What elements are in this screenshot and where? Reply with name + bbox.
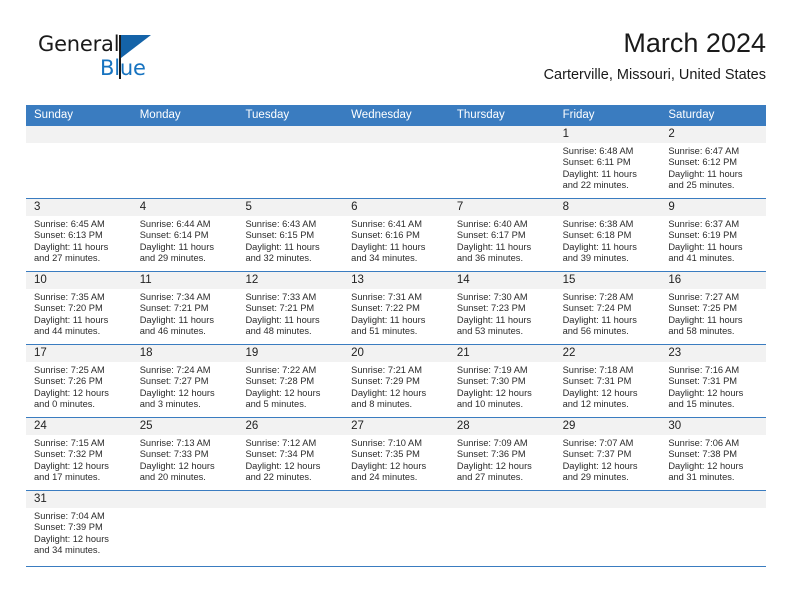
date-strip: 30 xyxy=(660,418,766,435)
sunrise-text: Sunrise: 6:43 AM xyxy=(245,219,337,230)
sunrise-text: Sunrise: 6:40 AM xyxy=(457,219,549,230)
date-number: 11 xyxy=(132,272,238,289)
daylight-text-line1: Daylight: 12 hours xyxy=(34,461,126,472)
sun-times: Sunrise: 7:18 AMSunset: 7:31 PMDaylight:… xyxy=(555,362,661,410)
dow-monday: Monday xyxy=(132,105,238,125)
date-strip: 23 xyxy=(660,345,766,362)
date-number: 9 xyxy=(660,199,766,216)
date-number: 31 xyxy=(26,491,132,508)
sun-times: Sunrise: 6:40 AMSunset: 6:17 PMDaylight:… xyxy=(449,216,555,264)
daylight-text-line1: Daylight: 12 hours xyxy=(563,461,655,472)
weeks-container: 1Sunrise: 6:48 AMSunset: 6:11 PMDaylight… xyxy=(26,125,766,566)
sunrise-text: Sunrise: 7:06 AM xyxy=(668,438,760,449)
sunset-text: Sunset: 6:11 PM xyxy=(563,157,655,168)
daylight-text-line2: and 41 minutes. xyxy=(668,253,760,264)
daylight-text-line2: and 22 minutes. xyxy=(245,472,337,483)
daylight-text-line2: and 8 minutes. xyxy=(351,399,443,410)
sun-times: Sunrise: 7:04 AMSunset: 7:39 PMDaylight:… xyxy=(26,508,132,556)
daylight-text-line1: Daylight: 12 hours xyxy=(245,388,337,399)
date-strip xyxy=(660,491,766,508)
sunrise-text: Sunrise: 7:31 AM xyxy=(351,292,443,303)
sunset-text: Sunset: 6:18 PM xyxy=(563,230,655,241)
daylight-text-line2: and 24 minutes. xyxy=(351,472,443,483)
week-row: 31Sunrise: 7:04 AMSunset: 7:39 PMDayligh… xyxy=(26,490,766,566)
sunset-text: Sunset: 7:21 PM xyxy=(245,303,337,314)
date-number: 13 xyxy=(343,272,449,289)
date-strip: 28 xyxy=(449,418,555,435)
date-strip: 5 xyxy=(237,199,343,216)
day-cell[interactable]: 3Sunrise: 6:45 AMSunset: 6:13 PMDaylight… xyxy=(26,199,132,271)
daylight-text-line1: Daylight: 12 hours xyxy=(34,388,126,399)
sunrise-text: Sunrise: 7:07 AM xyxy=(563,438,655,449)
day-cell-empty xyxy=(132,491,238,566)
day-cell[interactable]: 1Sunrise: 6:48 AMSunset: 6:11 PMDaylight… xyxy=(555,126,661,198)
general-blue-logo[interactable]: General Blue xyxy=(38,32,208,90)
daylight-text-line2: and 29 minutes. xyxy=(140,253,232,264)
sun-times: Sunrise: 6:38 AMSunset: 6:18 PMDaylight:… xyxy=(555,216,661,264)
daylight-text-line1: Daylight: 12 hours xyxy=(668,461,760,472)
date-strip xyxy=(237,491,343,508)
sunrise-text: Sunrise: 6:38 AM xyxy=(563,219,655,230)
date-strip: 22 xyxy=(555,345,661,362)
logo-flag-icon xyxy=(121,35,151,58)
day-cell[interactable]: 25Sunrise: 7:13 AMSunset: 7:33 PMDayligh… xyxy=(132,418,238,490)
date-number: 3 xyxy=(26,199,132,216)
day-cell-empty xyxy=(449,126,555,198)
sunset-text: Sunset: 7:36 PM xyxy=(457,449,549,460)
day-cell[interactable]: 9Sunrise: 6:37 AMSunset: 6:19 PMDaylight… xyxy=(660,199,766,271)
sunrise-text: Sunrise: 7:13 AM xyxy=(140,438,232,449)
sun-times: Sunrise: 6:45 AMSunset: 6:13 PMDaylight:… xyxy=(26,216,132,264)
daylight-text-line2: and 5 minutes. xyxy=(245,399,337,410)
date-strip: 12 xyxy=(237,272,343,289)
sunset-text: Sunset: 7:34 PM xyxy=(245,449,337,460)
date-number: 25 xyxy=(132,418,238,435)
date-number: 12 xyxy=(237,272,343,289)
sun-times: Sunrise: 6:47 AMSunset: 6:12 PMDaylight:… xyxy=(660,143,766,191)
date-number: 1 xyxy=(555,126,661,143)
sunrise-text: Sunrise: 6:44 AM xyxy=(140,219,232,230)
date-strip: 19 xyxy=(237,345,343,362)
date-number: 21 xyxy=(449,345,555,362)
date-number: 4 xyxy=(132,199,238,216)
day-cell-empty xyxy=(237,491,343,566)
day-cell[interactable]: 15Sunrise: 7:28 AMSunset: 7:24 PMDayligh… xyxy=(555,272,661,344)
sunset-text: Sunset: 6:19 PM xyxy=(668,230,760,241)
date-strip: 7 xyxy=(449,199,555,216)
sunset-text: Sunset: 7:31 PM xyxy=(668,376,760,387)
day-cell[interactable]: 19Sunrise: 7:22 AMSunset: 7:28 PMDayligh… xyxy=(237,345,343,417)
day-cell[interactable]: 7Sunrise: 6:40 AMSunset: 6:17 PMDaylight… xyxy=(449,199,555,271)
daylight-text-line1: Daylight: 12 hours xyxy=(245,461,337,472)
sunrise-text: Sunrise: 7:04 AM xyxy=(34,511,126,522)
sunset-text: Sunset: 7:21 PM xyxy=(140,303,232,314)
sunrise-text: Sunrise: 7:18 AM xyxy=(563,365,655,376)
sunrise-text: Sunrise: 7:27 AM xyxy=(668,292,760,303)
date-number: 19 xyxy=(237,345,343,362)
sun-times: Sunrise: 6:48 AMSunset: 6:11 PMDaylight:… xyxy=(555,143,661,191)
date-strip: 25 xyxy=(132,418,238,435)
sunset-text: Sunset: 6:17 PM xyxy=(457,230,549,241)
daylight-text-line2: and 22 minutes. xyxy=(563,180,655,191)
date-strip xyxy=(343,126,449,143)
date-number: 28 xyxy=(449,418,555,435)
date-strip xyxy=(132,491,238,508)
day-cell[interactable]: 21Sunrise: 7:19 AMSunset: 7:30 PMDayligh… xyxy=(449,345,555,417)
sunset-text: Sunset: 7:25 PM xyxy=(668,303,760,314)
date-strip: 27 xyxy=(343,418,449,435)
date-strip: 3 xyxy=(26,199,132,216)
day-cell[interactable]: 6Sunrise: 6:41 AMSunset: 6:16 PMDaylight… xyxy=(343,199,449,271)
week-row: 17Sunrise: 7:25 AMSunset: 7:26 PMDayligh… xyxy=(26,344,766,417)
date-number: 22 xyxy=(555,345,661,362)
sunset-text: Sunset: 6:12 PM xyxy=(668,157,760,168)
date-number: 2 xyxy=(660,126,766,143)
sunset-text: Sunset: 7:32 PM xyxy=(34,449,126,460)
sun-times: Sunrise: 7:06 AMSunset: 7:38 PMDaylight:… xyxy=(660,435,766,483)
day-cell[interactable]: 28Sunrise: 7:09 AMSunset: 7:36 PMDayligh… xyxy=(449,418,555,490)
date-strip xyxy=(449,126,555,143)
week-row: 3Sunrise: 6:45 AMSunset: 6:13 PMDaylight… xyxy=(26,198,766,271)
date-number: 5 xyxy=(237,199,343,216)
sun-times: Sunrise: 7:31 AMSunset: 7:22 PMDaylight:… xyxy=(343,289,449,337)
day-cell[interactable]: 31Sunrise: 7:04 AMSunset: 7:39 PMDayligh… xyxy=(26,491,132,566)
sunset-text: Sunset: 7:35 PM xyxy=(351,449,443,460)
daylight-text-line2: and 32 minutes. xyxy=(245,253,337,264)
sun-times: Sunrise: 6:44 AMSunset: 6:14 PMDaylight:… xyxy=(132,216,238,264)
sunrise-text: Sunrise: 7:09 AM xyxy=(457,438,549,449)
calendar-grid: Sunday Monday Tuesday Wednesday Thursday… xyxy=(26,105,766,566)
daylight-text-line1: Daylight: 12 hours xyxy=(140,461,232,472)
date-strip: 11 xyxy=(132,272,238,289)
daylight-text-line1: Daylight: 11 hours xyxy=(34,315,126,326)
daylight-text-line2: and 15 minutes. xyxy=(668,399,760,410)
sunset-text: Sunset: 7:23 PM xyxy=(457,303,549,314)
sunrise-text: Sunrise: 7:34 AM xyxy=(140,292,232,303)
day-cell-empty xyxy=(555,491,661,566)
day-cell[interactable]: 29Sunrise: 7:07 AMSunset: 7:37 PMDayligh… xyxy=(555,418,661,490)
sunset-text: Sunset: 7:31 PM xyxy=(563,376,655,387)
sunset-text: Sunset: 7:22 PM xyxy=(351,303,443,314)
logo-text-blue: Blue xyxy=(100,56,146,80)
date-number: 7 xyxy=(449,199,555,216)
sun-times: Sunrise: 7:33 AMSunset: 7:21 PMDaylight:… xyxy=(237,289,343,337)
day-cell[interactable]: 17Sunrise: 7:25 AMSunset: 7:26 PMDayligh… xyxy=(26,345,132,417)
daylight-text-line2: and 20 minutes. xyxy=(140,472,232,483)
day-cell[interactable]: 26Sunrise: 7:12 AMSunset: 7:34 PMDayligh… xyxy=(237,418,343,490)
date-strip: 9 xyxy=(660,199,766,216)
day-cell[interactable]: 11Sunrise: 7:34 AMSunset: 7:21 PMDayligh… xyxy=(132,272,238,344)
daylight-text-line1: Daylight: 11 hours xyxy=(140,242,232,253)
calendar-bottom-rule xyxy=(26,566,766,567)
sunset-text: Sunset: 6:15 PM xyxy=(245,230,337,241)
day-cell[interactable]: 22Sunrise: 7:18 AMSunset: 7:31 PMDayligh… xyxy=(555,345,661,417)
sunrise-text: Sunrise: 6:41 AM xyxy=(351,219,443,230)
sunrise-text: Sunrise: 7:33 AM xyxy=(245,292,337,303)
date-number: 17 xyxy=(26,345,132,362)
sunrise-text: Sunrise: 7:35 AM xyxy=(34,292,126,303)
day-cell-empty xyxy=(660,491,766,566)
day-cell[interactable]: 4Sunrise: 6:44 AMSunset: 6:14 PMDaylight… xyxy=(132,199,238,271)
day-cell[interactable]: 10Sunrise: 7:35 AMSunset: 7:20 PMDayligh… xyxy=(26,272,132,344)
day-cell-empty xyxy=(449,491,555,566)
day-of-week-header: Sunday Monday Tuesday Wednesday Thursday… xyxy=(26,105,766,125)
sunset-text: Sunset: 6:16 PM xyxy=(351,230,443,241)
week-row: 1Sunrise: 6:48 AMSunset: 6:11 PMDaylight… xyxy=(26,125,766,198)
daylight-text-line2: and 53 minutes. xyxy=(457,326,549,337)
sunset-text: Sunset: 6:14 PM xyxy=(140,230,232,241)
day-cell[interactable]: 13Sunrise: 7:31 AMSunset: 7:22 PMDayligh… xyxy=(343,272,449,344)
date-number: 10 xyxy=(26,272,132,289)
sun-times: Sunrise: 7:21 AMSunset: 7:29 PMDaylight:… xyxy=(343,362,449,410)
date-number: 8 xyxy=(555,199,661,216)
date-strip: 2 xyxy=(660,126,766,143)
date-strip: 6 xyxy=(343,199,449,216)
page-subtitle: Carterville, Missouri, United States xyxy=(544,64,766,86)
daylight-text-line1: Daylight: 11 hours xyxy=(245,242,337,253)
sunset-text: Sunset: 7:24 PM xyxy=(563,303,655,314)
day-cell[interactable]: 24Sunrise: 7:15 AMSunset: 7:32 PMDayligh… xyxy=(26,418,132,490)
daylight-text-line2: and 3 minutes. xyxy=(140,399,232,410)
sun-times: Sunrise: 7:12 AMSunset: 7:34 PMDaylight:… xyxy=(237,435,343,483)
daylight-text-line2: and 29 minutes. xyxy=(563,472,655,483)
date-strip: 8 xyxy=(555,199,661,216)
sunrise-text: Sunrise: 7:15 AM xyxy=(34,438,126,449)
daylight-text-line2: and 51 minutes. xyxy=(351,326,443,337)
daylight-text-line1: Daylight: 11 hours xyxy=(140,315,232,326)
day-cell[interactable]: 18Sunrise: 7:24 AMSunset: 7:27 PMDayligh… xyxy=(132,345,238,417)
sunset-text: Sunset: 7:39 PM xyxy=(34,522,126,533)
dow-tuesday: Tuesday xyxy=(237,105,343,125)
day-cell[interactable]: 14Sunrise: 7:30 AMSunset: 7:23 PMDayligh… xyxy=(449,272,555,344)
date-strip: 21 xyxy=(449,345,555,362)
daylight-text-line1: Daylight: 12 hours xyxy=(457,388,549,399)
daylight-text-line2: and 31 minutes. xyxy=(668,472,760,483)
daylight-text-line1: Daylight: 12 hours xyxy=(563,388,655,399)
date-strip: 16 xyxy=(660,272,766,289)
sunset-text: Sunset: 7:20 PM xyxy=(34,303,126,314)
daylight-text-line1: Daylight: 11 hours xyxy=(34,242,126,253)
date-strip: 14 xyxy=(449,272,555,289)
dow-saturday: Saturday xyxy=(660,105,766,125)
date-strip: 31 xyxy=(26,491,132,508)
sunrise-text: Sunrise: 7:24 AM xyxy=(140,365,232,376)
date-number: 26 xyxy=(237,418,343,435)
sunset-text: Sunset: 7:28 PM xyxy=(245,376,337,387)
daylight-text-line2: and 39 minutes. xyxy=(563,253,655,264)
daylight-text-line1: Daylight: 12 hours xyxy=(457,461,549,472)
date-strip: 17 xyxy=(26,345,132,362)
daylight-text-line2: and 27 minutes. xyxy=(34,253,126,264)
calendar-page: General Blue March 2024 Carterville, Mis… xyxy=(0,0,792,612)
date-strip xyxy=(343,491,449,508)
date-strip xyxy=(449,491,555,508)
dow-sunday: Sunday xyxy=(26,105,132,125)
sunset-text: Sunset: 7:27 PM xyxy=(140,376,232,387)
day-cell[interactable]: 16Sunrise: 7:27 AMSunset: 7:25 PMDayligh… xyxy=(660,272,766,344)
day-cell-empty xyxy=(132,126,238,198)
date-number: 15 xyxy=(555,272,661,289)
dow-thursday: Thursday xyxy=(449,105,555,125)
sun-times: Sunrise: 7:27 AMSunset: 7:25 PMDaylight:… xyxy=(660,289,766,337)
sunrise-text: Sunrise: 7:21 AM xyxy=(351,365,443,376)
date-strip: 1 xyxy=(555,126,661,143)
daylight-text-line2: and 36 minutes. xyxy=(457,253,549,264)
daylight-text-line2: and 10 minutes. xyxy=(457,399,549,410)
daylight-text-line1: Daylight: 12 hours xyxy=(34,534,126,545)
sunset-text: Sunset: 7:37 PM xyxy=(563,449,655,460)
daylight-text-line2: and 27 minutes. xyxy=(457,472,549,483)
day-cell[interactable]: 20Sunrise: 7:21 AMSunset: 7:29 PMDayligh… xyxy=(343,345,449,417)
sunrise-text: Sunrise: 7:25 AM xyxy=(34,365,126,376)
day-cell[interactable]: 23Sunrise: 7:16 AMSunset: 7:31 PMDayligh… xyxy=(660,345,766,417)
day-cell[interactable]: 2Sunrise: 6:47 AMSunset: 6:12 PMDaylight… xyxy=(660,126,766,198)
logo-text-general: General xyxy=(38,32,119,56)
sun-times: Sunrise: 7:09 AMSunset: 7:36 PMDaylight:… xyxy=(449,435,555,483)
sun-times: Sunrise: 7:22 AMSunset: 7:28 PMDaylight:… xyxy=(237,362,343,410)
daylight-text-line1: Daylight: 11 hours xyxy=(668,315,760,326)
daylight-text-line1: Daylight: 12 hours xyxy=(140,388,232,399)
sun-times: Sunrise: 7:28 AMSunset: 7:24 PMDaylight:… xyxy=(555,289,661,337)
sunrise-text: Sunrise: 7:10 AM xyxy=(351,438,443,449)
sun-times: Sunrise: 7:13 AMSunset: 7:33 PMDaylight:… xyxy=(132,435,238,483)
daylight-text-line1: Daylight: 12 hours xyxy=(351,388,443,399)
date-strip: 20 xyxy=(343,345,449,362)
sun-times: Sunrise: 7:34 AMSunset: 7:21 PMDaylight:… xyxy=(132,289,238,337)
date-strip xyxy=(132,126,238,143)
week-row: 24Sunrise: 7:15 AMSunset: 7:32 PMDayligh… xyxy=(26,417,766,490)
sun-times: Sunrise: 7:07 AMSunset: 7:37 PMDaylight:… xyxy=(555,435,661,483)
sun-times: Sunrise: 7:19 AMSunset: 7:30 PMDaylight:… xyxy=(449,362,555,410)
sunrise-text: Sunrise: 7:19 AM xyxy=(457,365,549,376)
sun-times: Sunrise: 7:16 AMSunset: 7:31 PMDaylight:… xyxy=(660,362,766,410)
daylight-text-line2: and 44 minutes. xyxy=(34,326,126,337)
sun-times: Sunrise: 7:24 AMSunset: 7:27 PMDaylight:… xyxy=(132,362,238,410)
day-cell-empty xyxy=(237,126,343,198)
daylight-text-line1: Daylight: 11 hours xyxy=(668,242,760,253)
sunset-text: Sunset: 7:38 PM xyxy=(668,449,760,460)
sunrise-text: Sunrise: 7:12 AM xyxy=(245,438,337,449)
daylight-text-line1: Daylight: 11 hours xyxy=(351,242,443,253)
date-strip: 15 xyxy=(555,272,661,289)
week-row: 10Sunrise: 7:35 AMSunset: 7:20 PMDayligh… xyxy=(26,271,766,344)
daylight-text-line2: and 46 minutes. xyxy=(140,326,232,337)
sun-times: Sunrise: 7:35 AMSunset: 7:20 PMDaylight:… xyxy=(26,289,132,337)
sun-times: Sunrise: 6:37 AMSunset: 6:19 PMDaylight:… xyxy=(660,216,766,264)
date-strip: 13 xyxy=(343,272,449,289)
sunrise-text: Sunrise: 7:30 AM xyxy=(457,292,549,303)
date-strip xyxy=(237,126,343,143)
sunrise-text: Sunrise: 6:37 AM xyxy=(668,219,760,230)
sun-times: Sunrise: 7:15 AMSunset: 7:32 PMDaylight:… xyxy=(26,435,132,483)
day-cell[interactable]: 27Sunrise: 7:10 AMSunset: 7:35 PMDayligh… xyxy=(343,418,449,490)
daylight-text-line2: and 12 minutes. xyxy=(563,399,655,410)
day-cell[interactable]: 8Sunrise: 6:38 AMSunset: 6:18 PMDaylight… xyxy=(555,199,661,271)
sunrise-text: Sunrise: 7:16 AM xyxy=(668,365,760,376)
sunrise-text: Sunrise: 7:22 AM xyxy=(245,365,337,376)
dow-wednesday: Wednesday xyxy=(343,105,449,125)
date-number: 24 xyxy=(26,418,132,435)
date-strip: 10 xyxy=(26,272,132,289)
sunset-text: Sunset: 7:26 PM xyxy=(34,376,126,387)
sunrise-text: Sunrise: 6:45 AM xyxy=(34,219,126,230)
sunrise-text: Sunrise: 6:47 AM xyxy=(668,146,760,157)
date-number: 6 xyxy=(343,199,449,216)
daylight-text-line1: Daylight: 11 hours xyxy=(245,315,337,326)
daylight-text-line1: Daylight: 11 hours xyxy=(668,169,760,180)
daylight-text-line1: Daylight: 11 hours xyxy=(457,315,549,326)
page-title: March 2024 xyxy=(544,26,766,60)
daylight-text-line2: and 34 minutes. xyxy=(351,253,443,264)
daylight-text-line2: and 58 minutes. xyxy=(668,326,760,337)
sunset-text: Sunset: 7:29 PM xyxy=(351,376,443,387)
day-cell[interactable]: 12Sunrise: 7:33 AMSunset: 7:21 PMDayligh… xyxy=(237,272,343,344)
date-strip: 4 xyxy=(132,199,238,216)
date-number: 16 xyxy=(660,272,766,289)
sunrise-text: Sunrise: 7:28 AM xyxy=(563,292,655,303)
sunset-text: Sunset: 6:13 PM xyxy=(34,230,126,241)
page-header: General Blue March 2024 Carterville, Mis… xyxy=(26,26,766,98)
day-cell-empty xyxy=(343,491,449,566)
daylight-text-line2: and 48 minutes. xyxy=(245,326,337,337)
daylight-text-line1: Daylight: 11 hours xyxy=(457,242,549,253)
sun-times: Sunrise: 7:25 AMSunset: 7:26 PMDaylight:… xyxy=(26,362,132,410)
date-strip xyxy=(555,491,661,508)
date-strip: 26 xyxy=(237,418,343,435)
daylight-text-line1: Daylight: 12 hours xyxy=(668,388,760,399)
date-strip: 24 xyxy=(26,418,132,435)
title-block: March 2024 Carterville, Missouri, United… xyxy=(544,26,766,86)
daylight-text-line2: and 25 minutes. xyxy=(668,180,760,191)
date-number: 23 xyxy=(660,345,766,362)
sun-times: Sunrise: 6:43 AMSunset: 6:15 PMDaylight:… xyxy=(237,216,343,264)
sun-times: Sunrise: 6:41 AMSunset: 6:16 PMDaylight:… xyxy=(343,216,449,264)
daylight-text-line1: Daylight: 11 hours xyxy=(351,315,443,326)
date-number: 18 xyxy=(132,345,238,362)
date-number: 14 xyxy=(449,272,555,289)
day-cell-empty xyxy=(343,126,449,198)
sunrise-text: Sunrise: 6:48 AM xyxy=(563,146,655,157)
date-strip: 18 xyxy=(132,345,238,362)
daylight-text-line2: and 56 minutes. xyxy=(563,326,655,337)
daylight-text-line2: and 17 minutes. xyxy=(34,472,126,483)
day-cell[interactable]: 5Sunrise: 6:43 AMSunset: 6:15 PMDaylight… xyxy=(237,199,343,271)
sunset-text: Sunset: 7:33 PM xyxy=(140,449,232,460)
daylight-text-line2: and 34 minutes. xyxy=(34,545,126,556)
daylight-text-line1: Daylight: 11 hours xyxy=(563,315,655,326)
sun-times: Sunrise: 7:30 AMSunset: 7:23 PMDaylight:… xyxy=(449,289,555,337)
date-number: 30 xyxy=(660,418,766,435)
daylight-text-line1: Daylight: 12 hours xyxy=(351,461,443,472)
sun-times: Sunrise: 7:10 AMSunset: 7:35 PMDaylight:… xyxy=(343,435,449,483)
daylight-text-line2: and 0 minutes. xyxy=(34,399,126,410)
date-strip: 29 xyxy=(555,418,661,435)
sunset-text: Sunset: 7:30 PM xyxy=(457,376,549,387)
date-number: 27 xyxy=(343,418,449,435)
date-strip xyxy=(26,126,132,143)
day-cell[interactable]: 30Sunrise: 7:06 AMSunset: 7:38 PMDayligh… xyxy=(660,418,766,490)
dow-friday: Friday xyxy=(555,105,661,125)
day-cell-empty xyxy=(26,126,132,198)
daylight-text-line1: Daylight: 11 hours xyxy=(563,169,655,180)
daylight-text-line1: Daylight: 11 hours xyxy=(563,242,655,253)
date-number: 29 xyxy=(555,418,661,435)
date-number: 20 xyxy=(343,345,449,362)
